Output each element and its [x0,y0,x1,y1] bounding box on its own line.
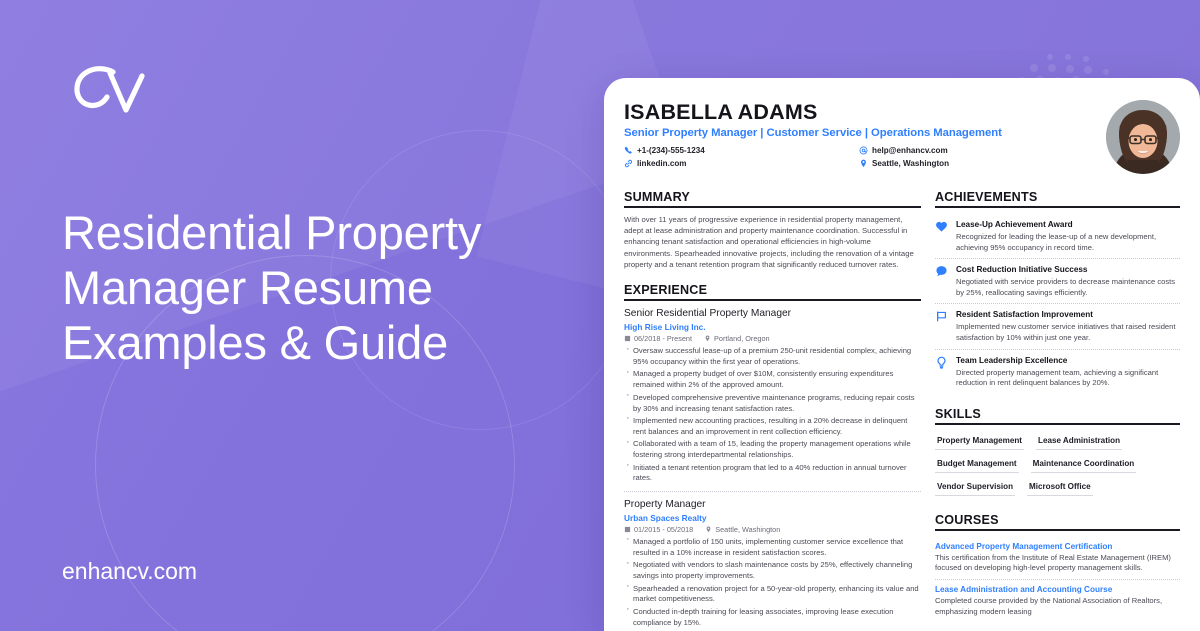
section-experience: EXPERIENCE Senior Residential Property M… [624,283,921,631]
list-item: Negotiated with vendors to slash mainten… [624,560,921,582]
brand-url: enhancv.com [62,558,197,585]
job-company: Urban Spaces Realty [624,513,921,523]
job-location: Seattle, Washington [715,525,780,534]
promo-panel: Residential Property Manager Resume Exam… [0,0,600,631]
speech-bubble-icon [935,264,949,298]
contact-list: +1-(234)-555-1234 help@enhancv.com linke… [624,144,1094,170]
list-item: Implemented new accounting practices, re… [624,416,921,438]
skill-tag: Microsoft Office [1027,477,1093,496]
enhancv-logo [68,62,150,124]
course-title: Lease Administration and Accounting Cour… [935,584,1180,595]
location-pin-icon [704,335,711,342]
section-skills: SKILLS Property Management Lease Adminis… [935,407,1180,500]
achievement-title: Cost Reduction Initiative Success [956,264,1180,275]
section-summary: SUMMARY With over 11 years of progressiv… [624,190,921,270]
list-item: Conducted in-depth training for leasing … [624,607,921,629]
list-item: Oversaw successful lease-up of a premium… [624,346,921,368]
skills-list: Property Management Lease Administration… [935,431,1180,500]
skill-tag: Property Management [935,431,1024,450]
skill-tag: Lease Administration [1036,431,1122,450]
resume-header: ISABELLA ADAMS Senior Property Manager |… [624,100,1180,174]
job-company: High Rise Living Inc. [624,322,921,332]
job-location: Portland, Oregon [714,334,770,343]
candidate-name: ISABELLA ADAMS [624,100,1094,124]
job-bullets: Managed a portfolio of 150 units, implem… [624,537,921,631]
achievements-heading: ACHIEVEMENTS [935,190,1180,208]
contact-phone-text: +1-(234)-555-1234 [637,144,705,157]
contact-phone[interactable]: +1-(234)-555-1234 [624,144,859,157]
course-title: Advanced Property Management Certificati… [935,541,1180,552]
contact-location[interactable]: Seattle, Washington [859,157,1094,170]
contact-link-text: linkedin.com [637,157,686,170]
experience-heading: EXPERIENCE [624,283,921,301]
location-pin-icon [859,159,868,168]
achievement-title: Team Leadership Excellence [956,355,1180,366]
courses-heading: COURSES [935,513,1180,531]
achievement-desc: Implemented new customer service initiat… [956,322,1180,343]
section-achievements: ACHIEVEMENTS Lease-Up Achievement Award … [935,190,1180,394]
resume-main-column: SUMMARY With over 11 years of progressiv… [624,190,921,631]
phone-icon [624,146,633,155]
job-dates: 06/2018 - Present [634,334,692,343]
list-item: Collaborated with a team of 15, leading … [624,439,921,461]
avatar-photo [1106,100,1180,174]
summary-text: With over 11 years of progressive experi… [624,214,921,270]
achievement-item: Cost Reduction Initiative Success Negoti… [935,258,1180,303]
skill-tag: Budget Management [935,454,1019,473]
list-item: Managed a portfolio of 150 units, implem… [624,537,921,559]
achievement-title: Lease-Up Achievement Award [956,219,1180,230]
list-item: Developed comprehensive preventive maint… [624,393,921,415]
summary-heading: SUMMARY [624,190,921,208]
job-bullets: Oversaw successful lease-up of a premium… [624,346,921,484]
heart-icon [935,219,949,253]
location-pin-icon [705,526,712,533]
contact-email-text: help@enhancv.com [872,144,948,157]
job-title: Senior Residential Property Manager [624,307,921,321]
achievement-title: Resident Satisfaction Improvement [956,309,1180,320]
resume-side-column: ACHIEVEMENTS Lease-Up Achievement Award … [935,190,1180,631]
flag-icon [935,309,949,343]
contact-email[interactable]: help@enhancv.com [859,144,1094,157]
avatar [1106,100,1180,174]
resume-body: SUMMARY With over 11 years of progressiv… [624,190,1180,631]
experience-entry: Property Manager Urban Spaces Realty 01/… [624,491,921,631]
calendar-icon [624,335,631,342]
section-courses: COURSES Advanced Property Management Cer… [935,513,1180,622]
contact-location-text: Seattle, Washington [872,157,949,170]
resume-card[interactable]: ISABELLA ADAMS Senior Property Manager |… [604,78,1200,631]
achievement-desc: Directed property management team, achie… [956,368,1180,389]
achievement-desc: Negotiated with service providers to dec… [956,277,1180,298]
lightbulb-icon [935,355,949,389]
course-desc: This certification from the Institute of… [935,553,1180,574]
achievement-item: Lease-Up Achievement Award Recognized fo… [935,214,1180,258]
experience-entry: Senior Residential Property Manager High… [624,307,921,491]
job-title: Property Manager [624,498,921,512]
list-item: Initiated a tenant retention program tha… [624,463,921,485]
job-meta: 01/2015 - 05/2018 Seattle, Washington [624,525,921,534]
achievement-item: Team Leadership Excellence Directed prop… [935,349,1180,394]
job-meta: 06/2018 - Present Portland, Oregon [624,334,921,343]
course-item: Advanced Property Management Certificati… [935,537,1180,579]
achievement-item: Resident Satisfaction Improvement Implem… [935,303,1180,348]
achievement-desc: Recognized for leading the lease-up of a… [956,232,1180,253]
skill-tag: Maintenance Coordination [1031,454,1137,473]
list-item: Spearheaded a renovation project for a 5… [624,584,921,606]
course-desc: Completed course provided by the Nationa… [935,596,1180,617]
job-dates: 01/2015 - 05/2018 [634,525,693,534]
contact-link[interactable]: linkedin.com [624,157,859,170]
page-title: Residential Property Manager Resume Exam… [62,205,562,370]
course-item: Lease Administration and Accounting Cour… [935,579,1180,622]
at-icon [859,146,868,155]
candidate-headline: Senior Property Manager | Customer Servi… [624,127,1094,139]
skills-heading: SKILLS [935,407,1180,425]
link-icon [624,159,633,168]
calendar-icon [624,526,631,533]
skill-tag: Vendor Supervision [935,477,1015,496]
list-item: Managed a property budget of over $10M, … [624,369,921,391]
